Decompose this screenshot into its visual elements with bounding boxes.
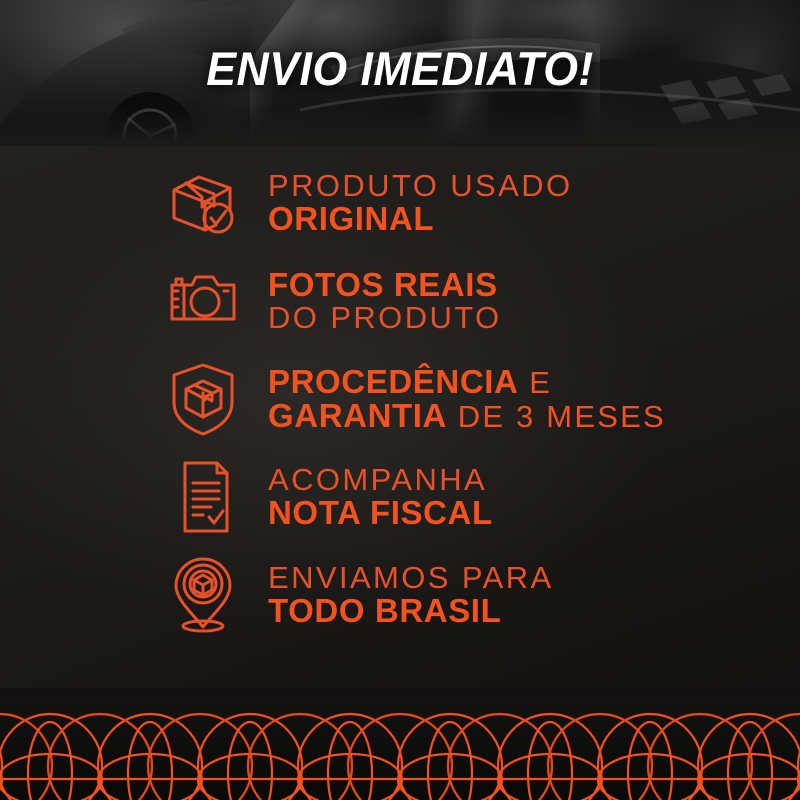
- feature-line-1: PROCEDÊNCIA E: [268, 365, 666, 399]
- invoice-document-icon: [164, 459, 242, 535]
- decorative-pattern: [0, 688, 800, 800]
- petal-arc-pattern-icon: [0, 688, 800, 800]
- feature-line-1: PRODUTO USADO: [268, 170, 573, 202]
- feature-line-2: TODO BRASIL: [268, 594, 554, 628]
- feature-line-2: NOTA FISCAL: [268, 496, 493, 530]
- promo-banner: ENVIO IMEDIATO! PRODUTO USADO ORIGINAL: [0, 0, 800, 800]
- box-check-icon: [164, 168, 242, 238]
- feature-line-2-suffix: DE 3 MESES: [447, 399, 666, 434]
- feature-line-1: ENVIAMOS PARA: [268, 562, 554, 594]
- feature-text: ENVIAMOS PARA TODO BRASIL: [268, 562, 554, 627]
- feature-line-1: FOTOS REAIS: [268, 268, 502, 302]
- camera-icon: [164, 269, 242, 333]
- list-item: FOTOS REAIS DO PRODUTO: [0, 252, 800, 350]
- feature-text: FOTOS REAIS DO PRODUTO: [268, 268, 502, 333]
- list-item: PRODUTO USADO ORIGINAL: [0, 154, 800, 252]
- page-title: ENVIO IMEDIATO!: [20, 41, 780, 96]
- feature-line-1: ACOMPANHA: [268, 464, 493, 496]
- feature-text: ACOMPANHA NOTA FISCAL: [268, 464, 493, 529]
- shield-box-icon: [164, 360, 242, 438]
- header-bottom-fade: [0, 106, 800, 146]
- feature-text: PROCEDÊNCIA E GARANTIA DE 3 MESES: [268, 365, 666, 432]
- list-item: PROCEDÊNCIA E GARANTIA DE 3 MESES: [0, 350, 800, 448]
- banner-header: ENVIO IMEDIATO!: [0, 0, 800, 146]
- features-list: PRODUTO USADO ORIGINAL FOTOS REAIS DO PR…: [0, 154, 800, 644]
- list-item: ENVIAMOS PARA TODO BRASIL: [0, 546, 800, 644]
- feature-line-1-suffix: E: [518, 365, 552, 400]
- feature-line-2: GARANTIA DE 3 MESES: [268, 399, 666, 433]
- feature-text: PRODUTO USADO ORIGINAL: [268, 170, 573, 235]
- map-pin-box-icon: [164, 555, 242, 635]
- list-item: ACOMPANHA NOTA FISCAL: [0, 448, 800, 546]
- feature-line-2: DO PRODUTO: [268, 302, 502, 334]
- feature-line-2: ORIGINAL: [268, 202, 573, 236]
